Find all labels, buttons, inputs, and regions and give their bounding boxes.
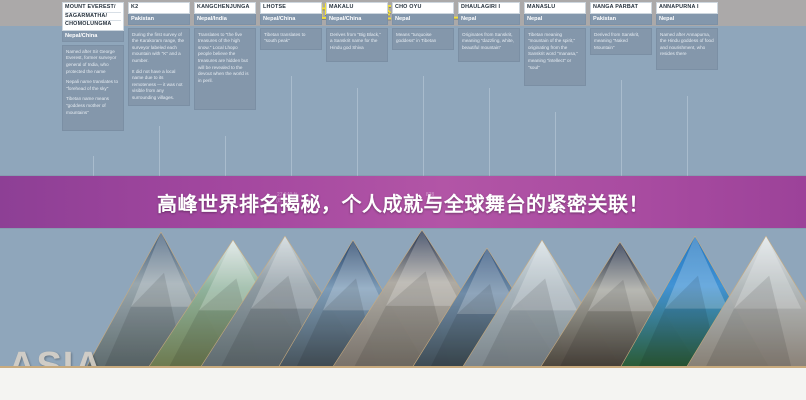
mountain-card[interactable]: NANGA PARBATPakistanDerived from Sanskri… (590, 2, 652, 55)
mountain-name-line: MAKALU (329, 4, 385, 12)
mountain-name-line: K2 (131, 4, 187, 12)
mountain-description: Derived from Sanskrit, meaning "Naked Mo… (590, 28, 652, 56)
mountain-name-line: CHOMOLUNGMA (65, 21, 121, 29)
promo-banner-text: 高峰世界排名揭秘，个人成就与全球舞台的紧密关联！ (0, 176, 806, 228)
mountain-name: LHOTSE (260, 2, 322, 14)
mountain-description: Named after Annapurna, the Hindu goddess… (656, 28, 718, 70)
mountain-card[interactable]: K2PakistanDuring the first survey of the… (128, 2, 190, 106)
mountain-country: Nepal (458, 14, 520, 25)
mountain-country: Nepal/China (260, 14, 322, 25)
mountain-description: Means "turquoise goddess" in Tibetan (392, 28, 454, 50)
mountain-card[interactable]: LHOTSENepal/ChinaTibetan translates to "… (260, 2, 322, 50)
mountain-country: Nepal (656, 14, 718, 25)
mountain-card[interactable]: CHO OYUNepalMeans "turquoise goddess" in… (392, 2, 454, 50)
mountain-name: MANASLU (524, 2, 586, 14)
mountain-silhouette-row (0, 226, 806, 368)
mountain-name: NANGA PARBAT (590, 2, 652, 14)
mountain-triangle (686, 236, 806, 368)
mountain-country: Nepal (524, 14, 586, 25)
footer-strip (0, 366, 806, 400)
mountain-name-line: ANNAPURNA I (659, 4, 715, 12)
mountain-description: Translates to "the five treasures of the… (194, 28, 256, 110)
mountain-description-paragraph: During the first survey of the Karakoram… (132, 32, 186, 65)
mountain-description-paragraph: It did not have a local name due to its … (132, 69, 186, 102)
mountain-name-line: MOUNT EVEREST/ (65, 4, 121, 13)
mountain-description-paragraph: Tibetan name means "goddess mother of mo… (66, 96, 120, 116)
mountain-name-line: CHO OYU (395, 4, 451, 12)
mountain-card[interactable]: MOUNT EVEREST/SAGARMATHA/CHOMOLUNGMANepa… (62, 2, 124, 131)
promo-banner: 27,940 ft(8,516 m) 83855 高峰世界排名揭秘，个人成就与全… (0, 176, 806, 228)
mountain-description: Tibetan meaning "mountain of the spirit,… (524, 28, 586, 86)
mountain-name: CHO OYU (392, 2, 454, 14)
mountain-name-line: SAGARMATHA/ (65, 13, 121, 22)
mountain-description: During the first survey of the Karakoram… (128, 28, 190, 106)
mountain-name: K2 (128, 2, 190, 14)
mountain-country: Nepal/China (62, 31, 124, 42)
mountain-card[interactable]: ANNAPURNA INepalNamed after Annapurna, t… (656, 2, 718, 70)
mountain-card-list: MOUNT EVEREST/SAGARMATHA/CHOMOLUNGMANepa… (62, 2, 806, 142)
mountain-description: Derives from "Big Black," a Sanskrit nam… (326, 28, 388, 62)
mountain-description: Named after Sir George Everest, former s… (62, 45, 124, 131)
mountain-card[interactable]: DHAULAGIRI INepalOriginates from Sanskri… (458, 2, 520, 62)
mountain-description-paragraph: Derived from Sanskrit, meaning "Naked Mo… (594, 32, 648, 52)
mountain-description-paragraph: Tibetan translates to "south peak" (264, 32, 318, 45)
mountain-description-paragraph: Named after Sir George Everest, former s… (66, 49, 120, 75)
mountain-country: Pakistan (128, 14, 190, 25)
mountain-name: KANGCHENJUNGA (194, 2, 256, 14)
mountain-name-line: NANGA PARBAT (593, 4, 649, 12)
mountain-description-paragraph: Named after Annapurna, the Hindu goddess… (660, 32, 714, 58)
mountain-name-line: LHOTSE (263, 4, 319, 12)
mountain-name-line: DHAULAGIRI I (461, 4, 517, 12)
mountain-description: Tibetan translates to "south peak" (260, 28, 322, 50)
mountain-name: ANNAPURNA I (656, 2, 718, 14)
mountain-card[interactable]: MAKALUNepal/ChinaDerives from "Big Black… (326, 2, 388, 62)
mountain-description: Originates from Sanskrit, meaning "dazzl… (458, 28, 520, 62)
mountain-description-paragraph: Translates to "the five treasures of the… (198, 32, 252, 85)
mountain-description-paragraph: Nepali name translates to "forehead of t… (66, 79, 120, 92)
mountain-country: Nepal (392, 14, 454, 25)
mountain-description-paragraph: Means "turquoise goddess" in Tibetan (396, 32, 450, 45)
mountain-name: MOUNT EVEREST/SAGARMATHA/CHOMOLUNGMA (62, 2, 124, 31)
mountain-card[interactable]: KANGCHENJUNGANepal/IndiaTranslates to "t… (194, 2, 256, 110)
mountain-description-paragraph: Derives from "Big Black," a Sanskrit nam… (330, 32, 384, 52)
mountain-card[interactable]: MANASLUNepalTibetan meaning "mountain of… (524, 2, 586, 86)
mountain-name-line: MANASLU (527, 4, 583, 12)
mountain-country: Nepal/China (326, 14, 388, 25)
mountain-country: Nepal/India (194, 14, 256, 25)
mountain-country: Pakistan (590, 14, 652, 25)
mountain-name: DHAULAGIRI I (458, 2, 520, 14)
mountain-name-line: KANGCHENJUNGA (197, 4, 253, 12)
mountain-description-paragraph: Tibetan meaning "mountain of the spirit,… (528, 32, 582, 72)
mountain-description-paragraph: Originates from Sanskrit, meaning "dazzl… (462, 32, 516, 52)
slide-canvas: 世界十座最高的山峰 MOUNT EVEREST/SAGARMATHA/CHOMO… (0, 0, 806, 400)
mountain-name: MAKALU (326, 2, 388, 14)
